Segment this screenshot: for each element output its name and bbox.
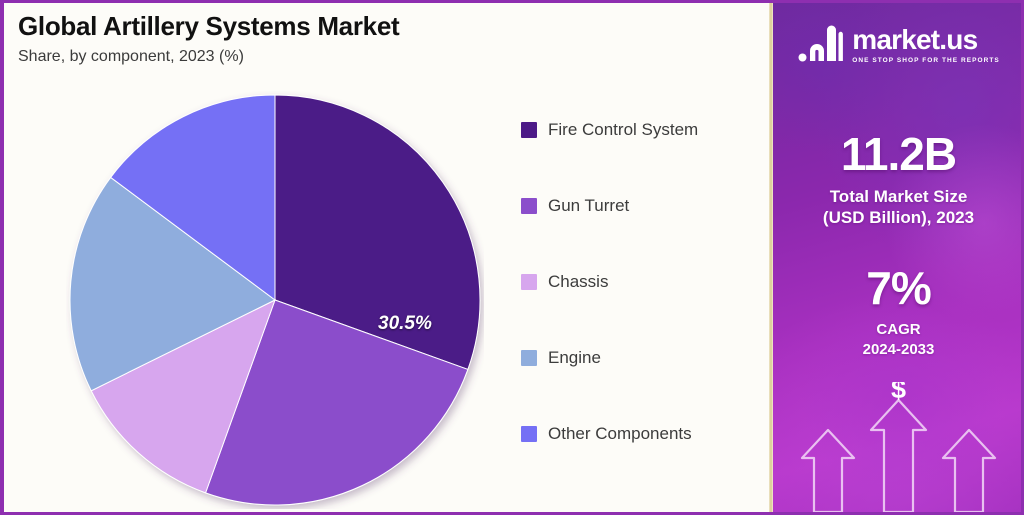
stat-market-size-value: 11.2B [773,131,1024,177]
legend-item-chassis[interactable]: Chassis [521,273,761,290]
logo-text-block: market.us ONE STOP SHOP FOR THE REPORTS [852,26,999,64]
legend-label: Gun Turret [548,196,629,216]
legend-swatch-icon [521,274,537,290]
stat-cagr: 7% CAGR 2024-2033 [773,265,1024,359]
stat-market-size: 11.2B Total Market Size (USD Billion), 2… [773,131,1024,229]
legend-label: Other Components [548,424,692,444]
title-block: Global Artillery Systems Market Share, b… [18,11,399,66]
legend-swatch-icon [521,426,537,442]
chart-panel: Global Artillery Systems Market Share, b… [4,3,769,512]
stat-market-size-caption-line2: (USD Billion), 2023 [773,207,1024,228]
logo-tagline: ONE STOP SHOP FOR THE REPORTS [852,57,999,64]
legend-label: Fire Control System [548,120,698,140]
stat-market-size-caption: Total Market Size (USD Billion), 2023 [773,186,1024,229]
growth-graphic: $ [773,382,1024,512]
legend-swatch-icon [521,122,537,138]
legend-label: Engine [548,348,601,368]
legend-swatch-icon [521,350,537,366]
pie-chart: 30.5% [66,91,484,509]
legend-item-gun-turret[interactable]: Gun Turret [521,197,761,214]
chart-subtitle: Share, by component, 2023 (%) [18,48,399,66]
market-us-logo-icon [797,21,843,67]
legend-swatch-icon [521,198,537,214]
pie-chart-svg [66,91,484,509]
chart-legend: Fire Control System Gun Turret Chassis E… [521,121,761,501]
page-title: Global Artillery Systems Market [18,11,399,42]
pie-slice-group [70,95,480,505]
stat-cagr-value: 7% [773,265,1024,311]
legend-label: Chassis [548,272,608,292]
legend-item-engine[interactable]: Engine [521,349,761,366]
legend-item-other-components[interactable]: Other Components [521,425,761,442]
stat-cagr-caption-line1: CAGR [773,320,1024,340]
growth-arrows-icon: $ [773,382,1024,512]
brand-logo[interactable]: market.us ONE STOP SHOP FOR THE REPORTS [773,21,1024,67]
legend-item-fire-control-system[interactable]: Fire Control System [521,121,761,138]
infographic-root: Global Artillery Systems Market Share, b… [0,0,1024,515]
stat-market-size-caption-line1: Total Market Size [773,186,1024,207]
dollar-sign-icon: $ [891,382,906,404]
brand-panel: market.us ONE STOP SHOP FOR THE REPORTS … [773,3,1024,512]
pie-data-label-fire-control-system: 30.5% [378,313,432,335]
logo-wordmark: market.us [852,26,999,54]
stat-cagr-caption: CAGR 2024-2033 [773,320,1024,359]
stat-cagr-caption-line2: 2024-2033 [773,340,1024,360]
